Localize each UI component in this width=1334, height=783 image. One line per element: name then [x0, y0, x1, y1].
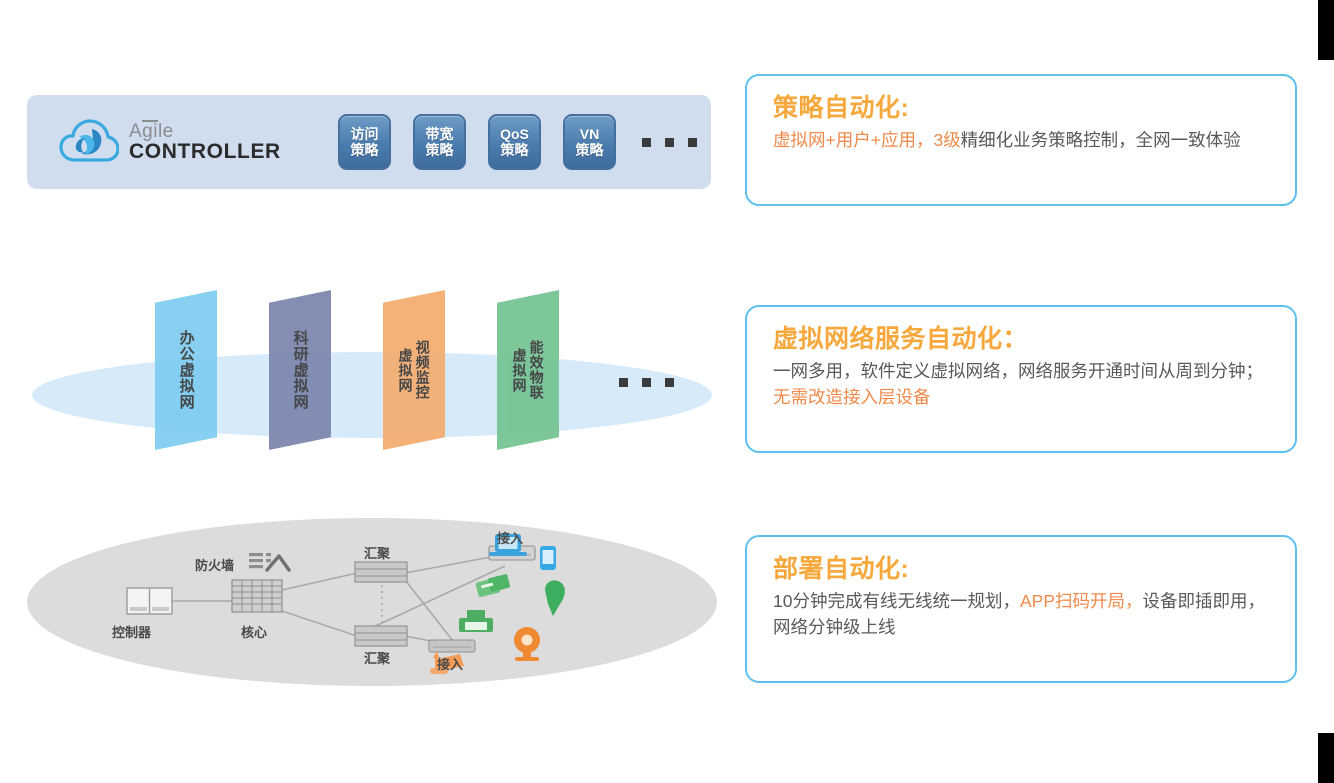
- card-deployment-rest: 10分钟完成有线无线统一规划，: [773, 591, 1020, 611]
- virtual-network-plane-video: 视频监控 虚拟网: [383, 290, 445, 450]
- endpoint-wireless-ap-icon: [545, 580, 565, 616]
- card-policy-automation-rest: 精细化业务策略控制，全网一致体验: [961, 130, 1241, 150]
- policy-button-vn-line1: VN: [580, 126, 599, 142]
- virtual-network-plane-office-label: 办公虚拟网: [177, 330, 194, 410]
- card-vn-service-title: 虚拟网络服务自动化：: [773, 325, 1273, 354]
- virtual-network-planes-group: 办公虚拟网 科研虚拟网 视频监控 虚拟网 能效物联 虚拟网: [27, 290, 717, 505]
- macron-mark: [142, 120, 158, 122]
- policy-button-bandwidth[interactable]: 带宽 策略: [413, 114, 466, 170]
- policy-button-vn-line2: 策略: [576, 142, 604, 158]
- card-deployment-title: 部署自动化:: [773, 555, 1273, 584]
- policy-button-access-line1: 访问: [351, 126, 379, 142]
- agile-controller-bar: Agile CONTROLLER 访问 策略 带宽 策略 QoS 策略 VN 策…: [27, 95, 711, 189]
- slide-canvas: Agile CONTROLLER 访问 策略 带宽 策略 QoS 策略 VN 策…: [0, 0, 1334, 783]
- policy-button-vn[interactable]: VN 策略: [563, 114, 616, 170]
- topology-node-aggregation-bottom: [355, 626, 407, 646]
- virtual-network-plane-office: 办公虚拟网: [155, 290, 217, 450]
- virtual-network-plane-iot-label: 能效物联: [529, 340, 545, 400]
- policy-button-bandwidth-line1: 带宽: [426, 126, 454, 142]
- topology-label-aggregation-bottom: 汇聚: [364, 648, 390, 667]
- card-vn-service-highlight: 无需改造接入层设备: [773, 387, 931, 407]
- topology-node-access-bottom: [429, 640, 475, 652]
- edge-strip-top: [1318, 0, 1334, 60]
- endpoint-printer-icon: [459, 610, 493, 632]
- topology-label-firewall: 防火墙: [195, 555, 234, 574]
- virtual-network-plane-research: 科研虚拟网: [269, 290, 331, 450]
- card-virtual-network-service-automation: 虚拟网络服务自动化： 一网多用，软件定义虚拟网络，网络服务开通时间从周到分钟；无…: [745, 305, 1297, 453]
- card-policy-automation-body: 虚拟网+用户+应用，3级精细化业务策略控制，全网一致体验: [773, 127, 1273, 153]
- topology-node-aggregation-top: [355, 562, 407, 582]
- card-deployment-automation: 部署自动化: 10分钟完成有线无线统一规划，APP扫码开局，设备即插即用，网络分…: [745, 535, 1297, 683]
- topology-label-controller: 控制器: [112, 622, 151, 641]
- policy-button-access[interactable]: 访问 策略: [338, 114, 391, 170]
- virtual-network-plane-iot: 能效物联 虚拟网: [497, 290, 559, 450]
- physical-network-ellipse: [32, 352, 712, 438]
- topology-node-firewall: [249, 553, 289, 570]
- card-vn-service-rest: 一网多用，软件定义虚拟网络，网络服务开通时间从周到分钟；: [773, 361, 1263, 381]
- card-deployment-highlight: APP扫码开局，: [1020, 591, 1143, 611]
- virtual-network-plane-research-label: 科研虚拟网: [291, 330, 308, 410]
- network-topology-group: 控制器 防火墙 核心 汇聚 汇聚 接入 接入: [27, 518, 717, 698]
- logo-controller-text: CONTROLLER: [129, 140, 281, 163]
- topology-label-access-top: 接入: [497, 528, 523, 547]
- card-deployment-body: 10分钟完成有线无线统一规划，APP扫码开局，设备即插即用，网络分钟级上线: [773, 588, 1273, 641]
- logo-agile-text: Agile: [129, 122, 174, 141]
- endpoint-smartphone-icon: [540, 546, 556, 570]
- policy-button-bandwidth-line2: 策略: [426, 142, 454, 158]
- card-policy-automation-title: 策略自动化:: [773, 94, 1273, 123]
- cloud-swirl-icon: [59, 116, 119, 168]
- edge-strip-bottom: [1318, 733, 1334, 783]
- policy-button-group: 访问 策略 带宽 策略 QoS 策略 VN 策略: [338, 114, 711, 170]
- card-policy-automation: 策略自动化: 虚拟网+用户+应用，3级精细化业务策略控制，全网一致体验: [745, 74, 1297, 206]
- policy-button-qos[interactable]: QoS 策略: [488, 114, 541, 170]
- topology-node-controller: [127, 588, 172, 614]
- policy-more-dots-icon[interactable]: [642, 138, 711, 147]
- policy-button-access-line2: 策略: [351, 142, 379, 158]
- virtual-network-plane-video-label: 视频监控: [415, 340, 431, 400]
- virtual-network-plane-iot-label2: 虚拟网: [511, 348, 527, 393]
- policy-button-qos-line1: QoS: [500, 126, 529, 142]
- agile-controller-logo: Agile CONTROLLER: [59, 116, 310, 168]
- endpoint-webcam-icon: [514, 627, 540, 661]
- policy-button-qos-line2: 策略: [501, 142, 529, 158]
- topology-label-core: 核心: [241, 622, 267, 641]
- topology-label-access-bottom: 接入: [437, 654, 463, 673]
- virtual-network-more-dots-icon: [619, 378, 688, 387]
- topology-label-aggregation-top: 汇聚: [364, 543, 390, 562]
- virtual-network-plane-video-label2: 虚拟网: [397, 348, 413, 393]
- card-vn-service-body: 一网多用，软件定义虚拟网络，网络服务开通时间从周到分钟；无需改造接入层设备: [773, 358, 1273, 411]
- card-policy-automation-highlight: 虚拟网+用户+应用，3级: [773, 130, 961, 150]
- topology-node-core: [232, 580, 282, 612]
